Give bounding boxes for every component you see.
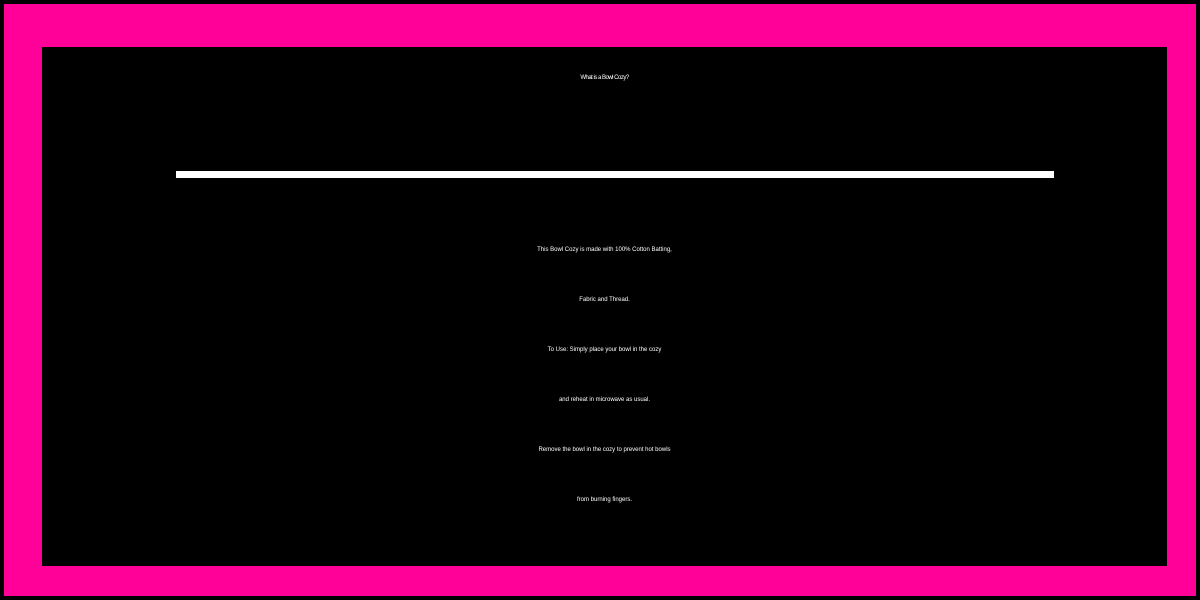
pink-border-frame: What is a Bowl Cozy? This Bowl Cozy is m… — [4, 4, 1196, 596]
title-underline-rule — [176, 171, 1054, 178]
body-line-3: To Use: Simply place your bowl in the co… — [42, 325, 1167, 375]
body-line-6: from burning fingers. — [42, 475, 1167, 525]
body-line-2: Fabric and Thread. — [42, 275, 1167, 325]
page-title: What is a Bowl Cozy? — [42, 75, 1167, 81]
body-line-5: Remove the bowl in the cozy to prevent h… — [42, 425, 1167, 475]
bowl-cozy-card: What is a Bowl Cozy? This Bowl Cozy is m… — [0, 0, 1200, 600]
body-line-4: and reheat in microwave as usual. — [42, 375, 1167, 425]
title-block: What is a Bowl Cozy? — [42, 75, 1167, 81]
body-line-1: This Bowl Cozy is made with 100% Cotton … — [42, 225, 1167, 275]
black-content-panel: What is a Bowl Cozy? This Bowl Cozy is m… — [42, 47, 1167, 566]
body-text-block: This Bowl Cozy is made with 100% Cotton … — [42, 225, 1167, 525]
